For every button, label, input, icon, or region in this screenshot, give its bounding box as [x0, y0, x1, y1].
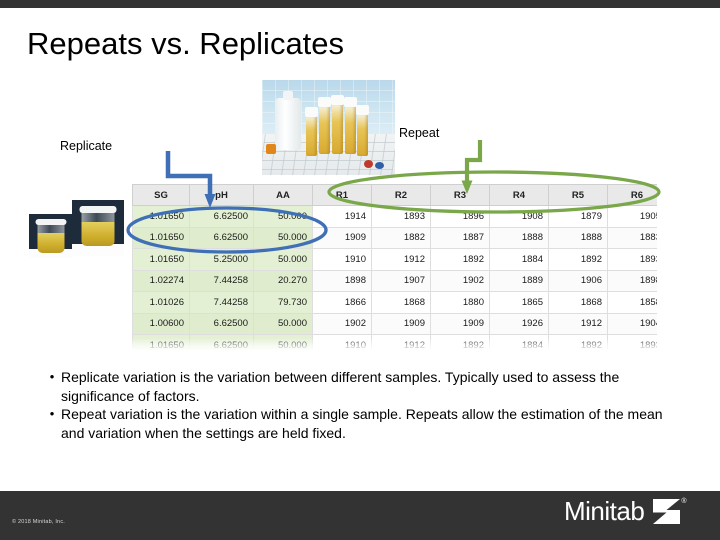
repeat-connector-line — [467, 140, 480, 183]
cell-r6[interactable]: 1893 — [608, 249, 658, 271]
replicate-callout-label: Replicate — [60, 139, 112, 153]
page-title: Repeats vs. Replicates — [27, 26, 344, 62]
list-item: • Repeat variation is the variation with… — [43, 405, 673, 442]
photo-vial — [332, 104, 343, 154]
column-header-r6[interactable]: R6 — [608, 185, 658, 206]
bullet-marker-icon: • — [43, 405, 61, 423]
cell-r3[interactable]: 1887 — [431, 227, 490, 249]
cell-aa[interactable]: 50.000 — [254, 313, 313, 335]
column-header-sg[interactable]: SG — [133, 185, 190, 206]
minitab-logo: Minitab ® — [564, 496, 680, 526]
column-header-r2[interactable]: R2 — [372, 185, 431, 206]
photo-vial — [357, 114, 368, 156]
cell-r4[interactable]: 1889 — [490, 270, 549, 292]
cell-ph[interactable]: 7.44258 — [190, 270, 254, 292]
cell-sg[interactable]: 1.00600 — [133, 313, 190, 335]
cell-sg[interactable]: 1.01650 — [133, 206, 190, 228]
slide-canvas: Repeats vs. Replicates — [0, 0, 720, 540]
table-row[interactable]: 1.02274 7.44258 20.270 1898 1907 1902 18… — [133, 270, 658, 292]
top-accent-bar — [0, 0, 720, 8]
cell-sg[interactable]: 1.02274 — [133, 270, 190, 292]
cell-r1[interactable]: 1909 — [313, 227, 372, 249]
cell-r1[interactable]: 1866 — [313, 292, 372, 314]
cell-r3[interactable]: 1909 — [431, 313, 490, 335]
photo-red-cap — [364, 160, 373, 168]
cell-ph[interactable]: 6.62500 — [190, 227, 254, 249]
photo-white-bottle — [275, 98, 301, 150]
beaker-small-photo — [29, 214, 72, 258]
cell-r2[interactable]: 1912 — [372, 249, 431, 271]
photo-blue-cap — [375, 162, 384, 169]
cell-r2[interactable]: 1882 — [372, 227, 431, 249]
column-header-r1[interactable]: R1 — [313, 185, 372, 206]
bullet-text: Repeat variation is the variation within… — [61, 405, 673, 442]
cell-sg[interactable]: 1.01650 — [133, 249, 190, 271]
cell-sg[interactable]: 1.01650 — [133, 227, 190, 249]
cell-aa[interactable]: 50.000 — [254, 249, 313, 271]
repeat-callout-label: Repeat — [399, 126, 439, 140]
cell-r1[interactable]: 1914 — [313, 206, 372, 228]
vials-photo — [262, 80, 395, 175]
table-row[interactable]: 1.01026 7.44258 79.730 1866 1868 1880 18… — [133, 292, 658, 314]
cell-r4[interactable]: 1926 — [490, 313, 549, 335]
cell-aa[interactable]: 50.000 — [254, 206, 313, 228]
table-header-row: SG pH AA R1 R2 R3 R4 R5 R6 — [133, 185, 658, 206]
cell-r2[interactable]: 1893 — [372, 206, 431, 228]
cell-r2[interactable]: 1868 — [372, 292, 431, 314]
table-row[interactable]: 1.00600 6.62500 50.000 1902 1909 1909 19… — [133, 313, 658, 335]
cell-aa[interactable]: 50.000 — [254, 227, 313, 249]
cell-ph[interactable]: 6.62500 — [190, 206, 254, 228]
cell-r1[interactable]: 1898 — [313, 270, 372, 292]
photo-vial — [319, 106, 330, 154]
cell-r4[interactable]: 1908 — [490, 206, 549, 228]
cell-r4[interactable]: 1888 — [490, 227, 549, 249]
column-header-r4[interactable]: R4 — [490, 185, 549, 206]
table-fade-mask — [132, 338, 657, 351]
cell-r5[interactable]: 1892 — [549, 249, 608, 271]
cell-sg[interactable]: 1.01026 — [133, 292, 190, 314]
cell-r1[interactable]: 1910 — [313, 249, 372, 271]
cell-r3[interactable]: 1892 — [431, 249, 490, 271]
cell-r5[interactable]: 1868 — [549, 292, 608, 314]
cell-r3[interactable]: 1902 — [431, 270, 490, 292]
cell-r3[interactable]: 1880 — [431, 292, 490, 314]
data-table[interactable]: SG pH AA R1 R2 R3 R4 R5 R6 1.01650 6.625… — [132, 184, 657, 350]
cell-r6[interactable]: 1898 — [608, 270, 658, 292]
minitab-arrow-icon: ® — [653, 499, 680, 524]
cell-r6[interactable]: 1904 — [608, 313, 658, 335]
table-row[interactable]: 1.01650 6.62500 50.000 1909 1882 1887 18… — [133, 227, 658, 249]
bullet-text: Replicate variation is the variation bet… — [61, 368, 673, 405]
cell-r5[interactable]: 1888 — [549, 227, 608, 249]
cell-ph[interactable]: 5.25000 — [190, 249, 254, 271]
cell-r4[interactable]: 1884 — [490, 249, 549, 271]
bullet-list: • Replicate variation is the variation b… — [43, 368, 673, 442]
cell-r6[interactable]: 1905 — [608, 206, 658, 228]
cell-r5[interactable]: 1912 — [549, 313, 608, 335]
photo-vial — [306, 116, 317, 156]
list-item: • Replicate variation is the variation b… — [43, 368, 673, 405]
cell-r2[interactable]: 1909 — [372, 313, 431, 335]
cell-ph[interactable]: 7.44258 — [190, 292, 254, 314]
cell-r4[interactable]: 1865 — [490, 292, 549, 314]
column-header-r3[interactable]: R3 — [431, 185, 490, 206]
cell-r6[interactable]: 1858 — [608, 292, 658, 314]
cell-aa[interactable]: 79.730 — [254, 292, 313, 314]
cell-ph[interactable]: 6.62500 — [190, 313, 254, 335]
photo-orange-cap — [266, 144, 276, 154]
column-header-r5[interactable]: R5 — [549, 185, 608, 206]
minitab-wordmark: Minitab — [564, 496, 644, 527]
copyright-notice: © 2018 Minitab, Inc. — [12, 519, 65, 525]
column-header-ph[interactable]: pH — [190, 185, 254, 206]
cell-r1[interactable]: 1902 — [313, 313, 372, 335]
bullet-marker-icon: • — [43, 368, 61, 386]
cell-aa[interactable]: 20.270 — [254, 270, 313, 292]
cell-r5[interactable]: 1906 — [549, 270, 608, 292]
beaker-large-photo — [72, 200, 124, 256]
photo-vial — [345, 106, 356, 154]
cell-r3[interactable]: 1896 — [431, 206, 490, 228]
cell-r5[interactable]: 1879 — [549, 206, 608, 228]
cell-r2[interactable]: 1907 — [372, 270, 431, 292]
table-row[interactable]: 1.01650 5.25000 50.000 1910 1912 1892 18… — [133, 249, 658, 271]
table-row[interactable]: 1.01650 6.62500 50.000 1914 1893 1896 19… — [133, 206, 658, 228]
cell-r6[interactable]: 1883 — [608, 227, 658, 249]
column-header-aa[interactable]: AA — [254, 185, 313, 206]
registered-trademark-icon: ® — [681, 498, 686, 505]
